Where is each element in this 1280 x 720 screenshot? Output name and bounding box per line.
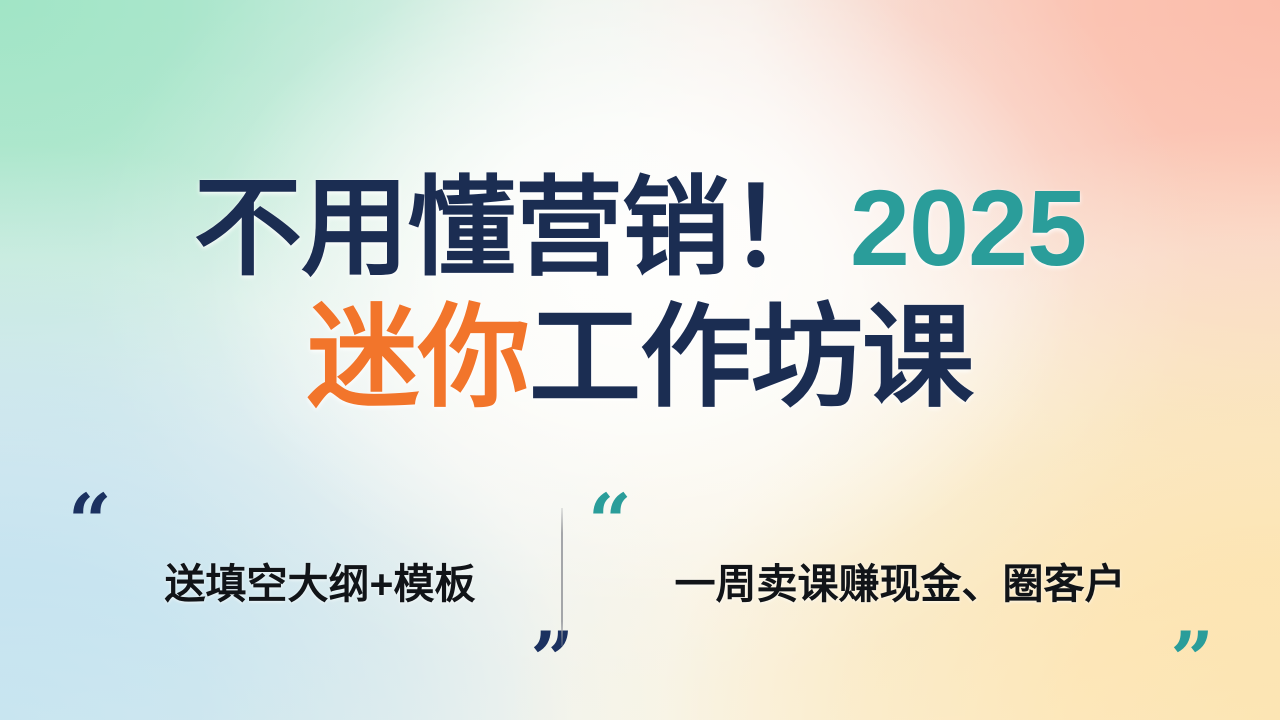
poster-content: 不用懂营销！2025 迷你工作坊课 “ 送填空大纲+模板 ” “ 一周卖课赚现金…: [0, 0, 1280, 720]
headline-line-1: 不用懂营销！2025: [0, 170, 1280, 286]
caption-block-left: “ 送填空大纲+模板 ”: [60, 490, 580, 670]
quote-open-icon: “: [68, 484, 112, 560]
headline-line-2-segment-orange: 迷你: [307, 295, 529, 420]
quote-close-icon: ”: [1170, 622, 1214, 698]
quote-open-icon: “: [588, 484, 632, 560]
promo-poster: 不用懂营销！2025 迷你工作坊课 “ 送填空大纲+模板 ” “ 一周卖课赚现金…: [0, 0, 1280, 720]
headline-line-2-segment-navy: 工作坊课: [529, 295, 973, 420]
quote-close-icon: ”: [530, 622, 574, 698]
caption-divider: [561, 508, 563, 646]
caption-row: “ 送填空大纲+模板 ” “ 一周卖课赚现金、圈客户 ”: [0, 490, 1280, 670]
caption-right-text: 一周卖课赚现金、圈客户: [675, 550, 1126, 610]
headline-line-1-segment-year: 2025: [850, 167, 1086, 288]
headline-line-2: 迷你工作坊课: [0, 298, 1280, 418]
headline-line-1-segment-navy: 不用懂营销！: [194, 167, 836, 288]
headline: 不用懂营销！2025 迷你工作坊课: [0, 170, 1280, 417]
caption-block-right: “ 一周卖课赚现金、圈客户 ”: [580, 490, 1220, 670]
caption-left-text: 送填空大纲+模板: [165, 550, 476, 610]
